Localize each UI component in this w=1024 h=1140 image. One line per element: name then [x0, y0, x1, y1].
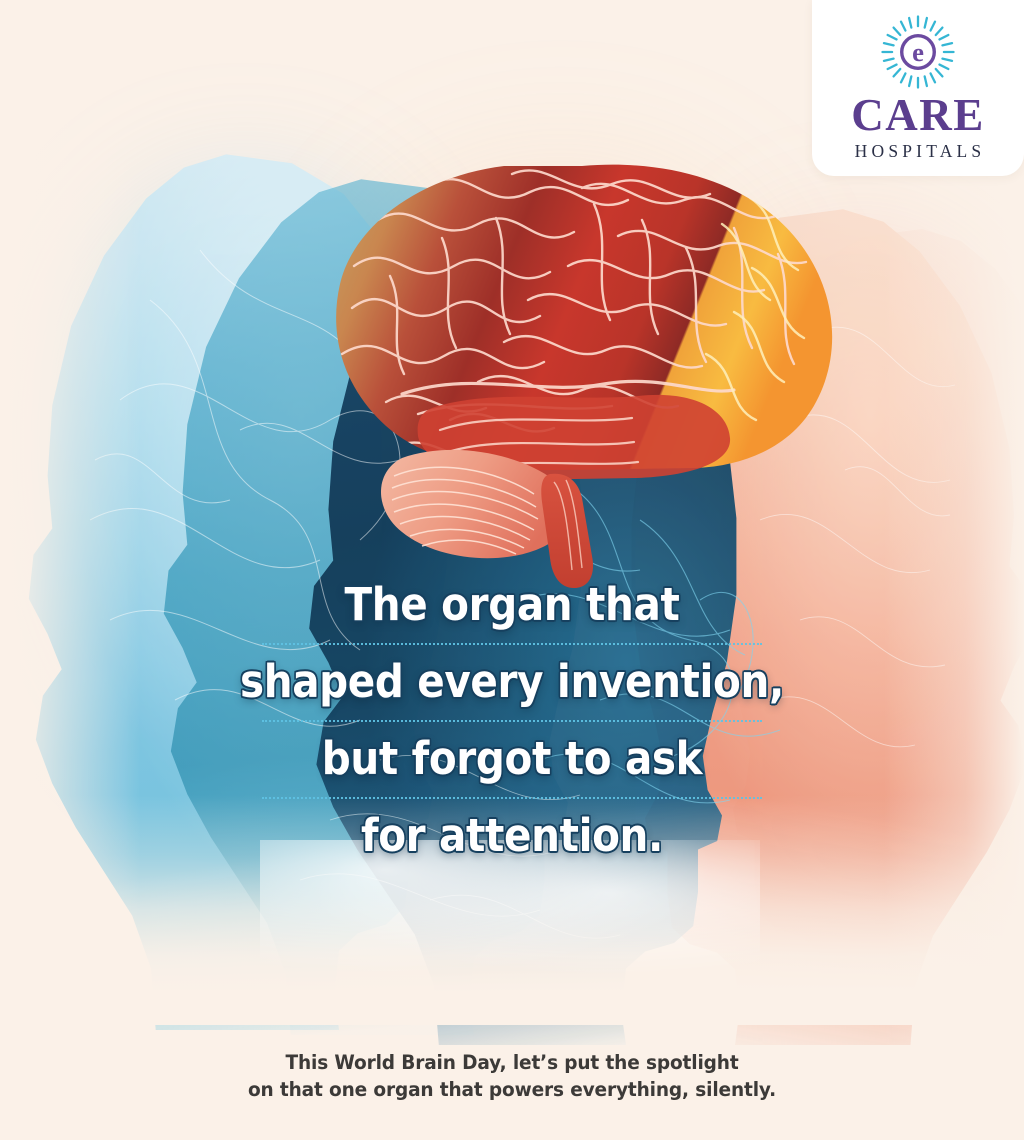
care-sunburst-e-emblem: e	[881, 15, 955, 89]
anatomical-brain-illustration	[282, 158, 872, 578]
caption-block: This World Brain Day, let’s put the spot…	[0, 1049, 1024, 1104]
logo-brand-subtitle: HOSPITALS	[851, 143, 986, 161]
care-hospitals-logo-card[interactable]: e CARE HOSPITALS	[812, 0, 1024, 176]
logo-brand-name: CARE	[851, 93, 985, 138]
poster-canvas: e CARE HOSPITALS The organ that shaped e…	[0, 0, 1024, 1140]
caption-line-2: on that one organ that powers everything…	[26, 1076, 999, 1104]
caption-line-1: This World Brain Day, let’s put the spot…	[26, 1049, 999, 1077]
svg-text:e: e	[912, 37, 924, 67]
